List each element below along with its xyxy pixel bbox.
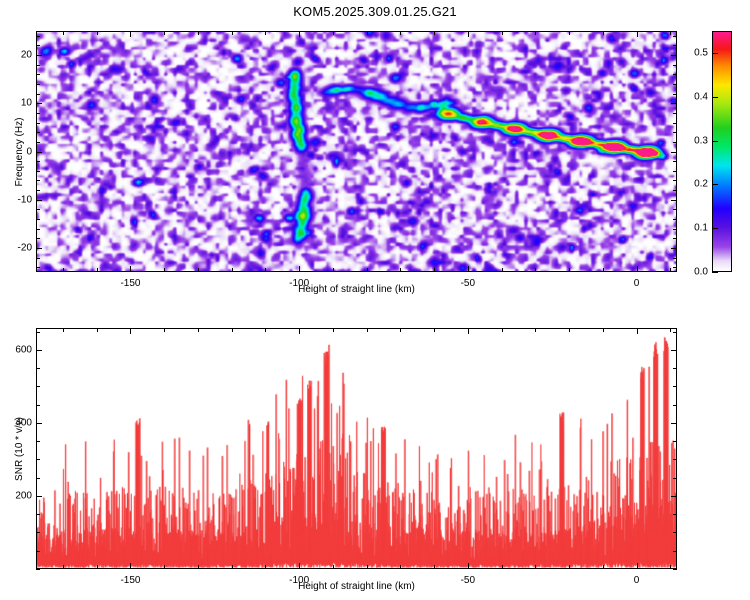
axis-tick xyxy=(198,328,199,332)
axis-tick xyxy=(36,152,42,153)
axis-tick xyxy=(434,565,435,569)
colorbar-tick-label: 0.5 xyxy=(694,47,708,58)
axis-tick xyxy=(97,268,98,272)
axis-tick xyxy=(36,45,40,46)
axis-tick xyxy=(569,31,570,35)
axis-tick xyxy=(671,496,677,497)
snr-y-axis-title: SNR (10 * v/v) xyxy=(14,417,25,481)
axis-tick xyxy=(670,328,671,332)
axis-tick xyxy=(603,565,604,569)
x-tick-label: -50 xyxy=(461,575,475,586)
y-tick-label: 600 xyxy=(4,344,32,355)
axis-tick xyxy=(198,565,199,569)
axis-tick xyxy=(232,268,233,272)
axis-tick xyxy=(673,113,677,114)
axis-tick xyxy=(673,65,677,66)
axis-tick xyxy=(36,532,40,533)
axis-tick xyxy=(164,565,165,569)
axis-tick xyxy=(36,132,40,133)
axis-tick xyxy=(130,31,131,37)
axis-tick xyxy=(671,350,677,351)
axis-tick xyxy=(36,142,40,143)
snr-x-axis-title: Height of straight line (km) xyxy=(298,581,415,592)
axis-tick xyxy=(673,142,677,143)
axis-tick xyxy=(671,423,677,424)
axis-tick xyxy=(603,328,604,332)
axis-tick xyxy=(36,219,40,220)
axis-tick xyxy=(569,328,570,332)
axis-tick xyxy=(673,441,677,442)
axis-tick xyxy=(36,569,40,570)
axis-tick xyxy=(130,328,131,334)
axis-tick xyxy=(400,565,401,569)
axis-tick xyxy=(63,31,64,35)
axis-tick xyxy=(232,328,233,332)
axis-tick xyxy=(637,31,638,37)
axis-tick xyxy=(637,328,638,334)
axis-tick xyxy=(569,565,570,569)
axis-tick xyxy=(502,268,503,272)
axis-tick xyxy=(673,45,677,46)
x-tick-label: 0 xyxy=(634,278,640,289)
axis-tick xyxy=(232,31,233,35)
snr-line-series xyxy=(37,329,676,568)
axis-tick xyxy=(673,180,677,181)
figure-root: KOM5.2025.309.01.25.G21 -150-100-500 -20… xyxy=(0,0,750,600)
axis-tick xyxy=(36,423,42,424)
axis-tick xyxy=(36,332,40,333)
axis-tick xyxy=(36,350,42,351)
axis-tick xyxy=(36,386,40,387)
axis-tick xyxy=(670,565,671,569)
axis-tick xyxy=(232,565,233,569)
y-tick-label: -20 xyxy=(4,242,32,253)
axis-tick xyxy=(36,238,40,239)
colorbar xyxy=(712,31,732,272)
colorbar-tick-label: 0.1 xyxy=(694,223,708,234)
axis-tick xyxy=(535,328,536,332)
axis-tick xyxy=(265,328,266,332)
snr-plot-area xyxy=(36,328,677,569)
axis-tick xyxy=(673,219,677,220)
axis-tick xyxy=(36,84,40,85)
colorbar-gradient xyxy=(712,31,732,272)
axis-tick xyxy=(333,328,334,332)
spectrogram-y-axis-title: Frequency (Hz) xyxy=(14,117,25,186)
axis-tick xyxy=(36,55,42,56)
axis-tick xyxy=(468,31,469,37)
axis-tick xyxy=(36,248,42,249)
axis-tick xyxy=(36,258,40,259)
axis-tick xyxy=(36,441,40,442)
axis-tick xyxy=(670,268,671,272)
axis-tick xyxy=(36,161,40,162)
axis-tick xyxy=(36,65,40,66)
axis-tick xyxy=(333,565,334,569)
axis-tick xyxy=(36,229,40,230)
axis-tick xyxy=(97,565,98,569)
axis-tick xyxy=(36,74,40,75)
axis-tick xyxy=(673,368,677,369)
axis-tick xyxy=(673,209,677,210)
colorbar-tick-label: 0.2 xyxy=(694,179,708,190)
x-tick-label: -50 xyxy=(461,278,475,289)
axis-tick xyxy=(36,209,40,210)
axis-tick xyxy=(164,31,165,35)
axis-tick xyxy=(670,31,671,35)
axis-tick xyxy=(265,268,266,272)
axis-tick xyxy=(671,103,677,104)
spectrogram-plot-area xyxy=(36,31,677,272)
axis-tick xyxy=(468,328,469,334)
axis-tick xyxy=(673,405,677,406)
axis-tick xyxy=(673,171,677,172)
axis-tick xyxy=(367,328,368,332)
axis-tick xyxy=(673,478,677,479)
colorbar-tick-label: 0.0 xyxy=(694,267,708,278)
axis-tick xyxy=(673,267,677,268)
axis-tick xyxy=(36,368,40,369)
axis-tick xyxy=(502,31,503,35)
axis-tick xyxy=(36,551,40,552)
x-tick-label: -150 xyxy=(120,575,140,586)
axis-tick xyxy=(673,36,677,37)
axis-tick xyxy=(164,328,165,332)
axis-tick xyxy=(637,266,638,272)
y-tick-label: 20 xyxy=(4,50,32,61)
axis-tick xyxy=(36,267,40,268)
axis-tick xyxy=(36,478,40,479)
axis-tick xyxy=(63,268,64,272)
axis-tick xyxy=(299,31,300,37)
axis-tick xyxy=(673,161,677,162)
axis-tick xyxy=(673,386,677,387)
axis-tick xyxy=(36,190,40,191)
axis-tick xyxy=(673,569,677,570)
axis-tick xyxy=(673,332,677,333)
axis-tick xyxy=(673,551,677,552)
axis-tick xyxy=(673,74,677,75)
axis-tick xyxy=(367,268,368,272)
axis-tick xyxy=(97,328,98,332)
axis-tick xyxy=(673,229,677,230)
axis-tick xyxy=(637,563,638,569)
axis-tick xyxy=(502,565,503,569)
axis-tick xyxy=(535,268,536,272)
colorbar-tick xyxy=(712,272,718,273)
axis-tick xyxy=(673,459,677,460)
colorbar-tick-label: 0.3 xyxy=(694,135,708,146)
axis-tick xyxy=(603,31,604,35)
axis-tick xyxy=(673,190,677,191)
axis-tick xyxy=(671,55,677,56)
axis-tick xyxy=(36,103,42,104)
axis-tick xyxy=(434,268,435,272)
x-tick-label: 0 xyxy=(634,575,640,586)
spectrogram-x-axis-title: Height of straight line (km) xyxy=(298,284,415,295)
axis-tick xyxy=(299,328,300,334)
axis-tick xyxy=(535,565,536,569)
axis-tick xyxy=(673,123,677,124)
axis-tick xyxy=(333,31,334,35)
colorbar-tick xyxy=(712,97,718,98)
axis-tick xyxy=(468,563,469,569)
axis-tick xyxy=(367,31,368,35)
page-title: KOM5.2025.309.01.25.G21 xyxy=(0,4,750,19)
axis-tick xyxy=(333,268,334,272)
axis-tick xyxy=(130,563,131,569)
axis-tick xyxy=(502,328,503,332)
axis-tick xyxy=(63,565,64,569)
axis-tick xyxy=(400,328,401,332)
axis-tick xyxy=(673,84,677,85)
axis-tick xyxy=(36,200,42,201)
axis-tick xyxy=(671,152,677,153)
axis-tick xyxy=(36,171,40,172)
axis-tick xyxy=(63,328,64,332)
axis-tick xyxy=(36,405,40,406)
spectrogram-image xyxy=(37,32,676,271)
axis-tick xyxy=(36,514,40,515)
axis-tick xyxy=(673,94,677,95)
y-tick-label: 10 xyxy=(4,98,32,109)
colorbar-tick xyxy=(712,228,718,229)
axis-tick xyxy=(535,31,536,35)
axis-tick xyxy=(434,328,435,332)
axis-tick xyxy=(673,514,677,515)
axis-tick xyxy=(299,266,300,272)
axis-tick xyxy=(36,459,40,460)
axis-tick xyxy=(198,31,199,35)
colorbar-tick xyxy=(712,141,718,142)
axis-tick xyxy=(603,268,604,272)
axis-tick xyxy=(198,268,199,272)
axis-tick xyxy=(367,565,368,569)
axis-tick xyxy=(468,266,469,272)
axis-tick xyxy=(36,113,40,114)
axis-tick xyxy=(671,200,677,201)
axis-tick xyxy=(36,94,40,95)
axis-tick xyxy=(36,496,42,497)
axis-tick xyxy=(400,31,401,35)
axis-tick xyxy=(299,563,300,569)
axis-tick xyxy=(673,532,677,533)
colorbar-tick xyxy=(712,53,718,54)
axis-tick xyxy=(671,248,677,249)
axis-tick xyxy=(673,132,677,133)
y-tick-label: 200 xyxy=(4,490,32,501)
axis-tick xyxy=(400,268,401,272)
x-tick-label: -150 xyxy=(120,278,140,289)
axis-tick xyxy=(97,31,98,35)
axis-tick xyxy=(130,266,131,272)
axis-tick xyxy=(265,31,266,35)
colorbar-tick-label: 0.4 xyxy=(694,91,708,102)
axis-tick xyxy=(673,258,677,259)
axis-tick xyxy=(434,31,435,35)
axis-tick xyxy=(164,268,165,272)
axis-tick xyxy=(265,565,266,569)
axis-tick xyxy=(569,268,570,272)
colorbar-tick xyxy=(712,184,718,185)
axis-tick xyxy=(673,238,677,239)
y-tick-label: -10 xyxy=(4,194,32,205)
axis-tick xyxy=(36,123,40,124)
axis-tick xyxy=(36,36,40,37)
axis-tick xyxy=(36,180,40,181)
